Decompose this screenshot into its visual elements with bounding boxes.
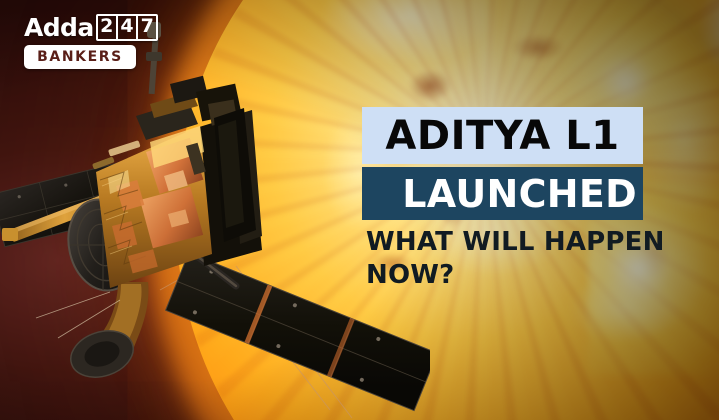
brand-numeral-2: 2: [98, 16, 118, 39]
headline-line-1: ADITYA L1: [385, 116, 619, 156]
brand-logo-top-row: Adda 2 4 7: [24, 14, 150, 41]
instrument-cone: [65, 282, 149, 385]
subheadline-line-2: NOW?: [366, 259, 666, 292]
headline-line-2: LAUNCHED: [402, 175, 643, 213]
headline-band-secondary: LAUNCHED: [362, 167, 643, 220]
brand-numerals-box: 2 4 7: [96, 14, 159, 41]
brand-numeral-4: 4: [118, 16, 138, 39]
brand-logo[interactable]: Adda 2 4 7 BANKERS: [24, 14, 150, 69]
subheadline-line-1: WHAT WILL HAPPEN: [366, 226, 666, 259]
brand-vertical-chip: BANKERS: [24, 45, 136, 69]
brand-wordmark: Adda: [24, 15, 94, 40]
brand-numeral-7: 7: [138, 16, 156, 39]
poster-canvas: Adda 2 4 7 BANKERS ADITYA L1 LAUNCHED WH…: [0, 0, 719, 420]
brand-vertical-label: BANKERS: [37, 49, 123, 65]
subheadline: WHAT WILL HAPPEN NOW?: [366, 226, 666, 292]
headline-band-primary: ADITYA L1: [362, 107, 643, 164]
